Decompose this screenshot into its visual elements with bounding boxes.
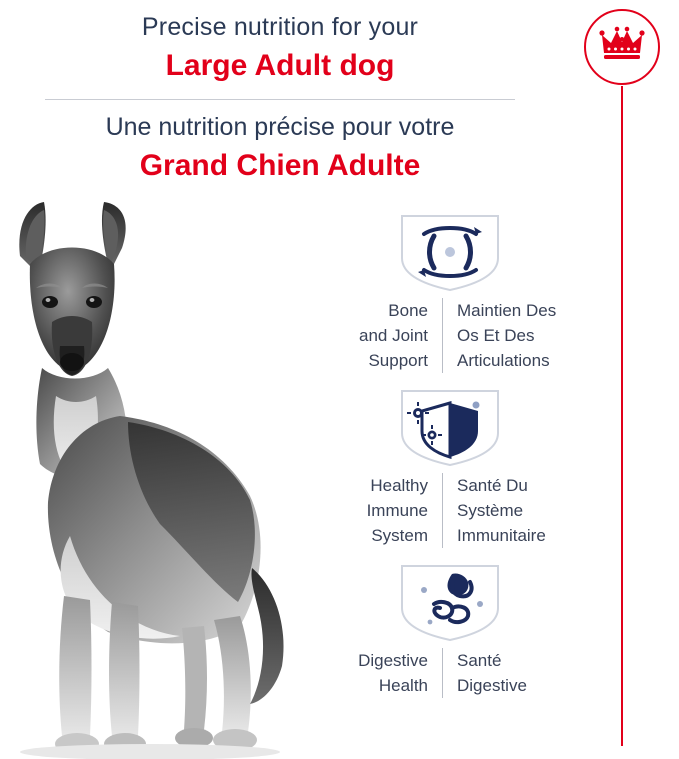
benefit-digestive-label-fr: Santé Digestive (443, 648, 592, 698)
dog-photo (0, 196, 300, 759)
logo-vertical-line (621, 86, 623, 746)
benefit-immune-label-en: Healthy Immune System (308, 473, 443, 548)
headline-english-intro: Precise nutrition for your (0, 10, 560, 44)
benefit-immune-en-line1: Healthy (308, 473, 428, 498)
benefit-bone-fr-line3: Articulations (457, 348, 592, 373)
benefit-immune-label-fr: Santé Du Système Immunitaire (443, 473, 592, 548)
benefit-bone-label-fr: Maintien Des Os Et Des Articulations (443, 298, 592, 373)
benefit-bone-label-en: Bone and Joint Support (308, 298, 443, 373)
german-shepherd-illustration (0, 196, 300, 759)
benefit-bone-en-line1: Bone (308, 298, 428, 323)
benefit-digestive-en-line2: Health (308, 673, 428, 698)
benefit-bone-fr-line1: Maintien Des (457, 298, 592, 323)
benefit-immune-labels: Healthy Immune System Santé Du Système I… (305, 473, 595, 548)
benefit-bone-fr-line2: Os Et Des (457, 323, 592, 348)
headline-french-intro: Une nutrition précise pour votre (0, 110, 560, 144)
immune-shield-icon (394, 385, 506, 467)
benefit-immune-system: Healthy Immune System Santé Du Système I… (305, 385, 595, 548)
headline-french-main: Grand Chien Adulte (0, 146, 560, 186)
header-block: Precise nutrition for your Large Adult d… (0, 10, 560, 186)
benefit-bone-and-joint: Bone and Joint Support Maintien Des Os E… (305, 210, 595, 373)
header-divider (45, 99, 515, 100)
benefit-digestive-fr-line2: Digestive (457, 673, 592, 698)
benefit-digestive-label-en: Digestive Health (308, 648, 443, 698)
headline-english-main: Large Adult dog (0, 46, 560, 86)
benefits-list: Bone and Joint Support Maintien Des Os E… (305, 210, 595, 710)
benefit-immune-fr-line2: Système (457, 498, 592, 523)
digestive-stomach-icon (394, 560, 506, 642)
benefit-immune-fr-line1: Santé Du (457, 473, 592, 498)
benefit-digestive-en-line1: Digestive (308, 648, 428, 673)
benefit-digestive-labels: Digestive Health Santé Digestive (305, 648, 595, 698)
benefit-immune-en-line2: Immune (308, 498, 428, 523)
logo-circle (584, 9, 660, 85)
benefit-bone-en-line2: and Joint (308, 323, 428, 348)
brand-logo (584, 9, 662, 87)
crown-icon (586, 11, 658, 83)
benefit-digestive-fr-line1: Santé (457, 648, 592, 673)
benefit-immune-en-line3: System (308, 523, 428, 548)
benefit-bone-labels: Bone and Joint Support Maintien Des Os E… (305, 298, 595, 373)
bone-and-joint-icon (394, 210, 506, 292)
benefit-bone-en-line3: Support (308, 348, 428, 373)
benefit-immune-fr-line3: Immunitaire (457, 523, 592, 548)
benefit-digestive-health: Digestive Health Santé Digestive (305, 560, 595, 698)
